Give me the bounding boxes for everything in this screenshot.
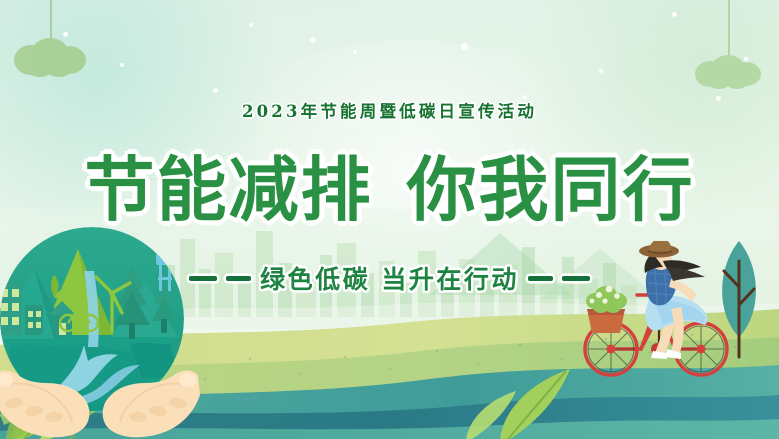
sparkle-dot — [249, 23, 253, 27]
page-title: 节能减排你我同行 — [0, 134, 779, 235]
sparkle-dot — [310, 37, 316, 43]
dash-right-outer — [562, 276, 590, 281]
hands-holding-earth-illustration — [0, 227, 200, 439]
dash-left-inner — [226, 276, 251, 281]
sparkle-dot — [353, 50, 357, 54]
dash-right-inner — [528, 276, 553, 281]
campaign-subtitle: 2023年节能周暨低碳日宣传活动 — [0, 98, 779, 122]
poster-canvas: 2023年节能周暨低碳日宣传活动 节能减排你我同行 绿色低碳 当升在行动 — [0, 0, 779, 439]
cloud-shape — [14, 38, 86, 77]
sparkle-dot — [120, 63, 124, 67]
sparkle-dot — [213, 88, 218, 93]
hanging-cloud-right — [697, 0, 761, 92]
title-part-1: 节能减排 — [85, 149, 373, 231]
tagline-row: 绿色低碳 当升在行动 — [0, 260, 779, 296]
sparkle-dot — [599, 69, 603, 73]
title-part-2: 你我同行 — [407, 149, 695, 231]
tagline-text: 绿色低碳 当升在行动 — [260, 260, 519, 296]
sparkle-dot — [461, 43, 468, 50]
dash-left-outer — [189, 276, 217, 281]
hanging-cloud-left — [16, 0, 86, 78]
girl-rider — [639, 241, 708, 359]
sparkle-dot — [672, 12, 677, 17]
cloud-shape — [695, 55, 761, 89]
